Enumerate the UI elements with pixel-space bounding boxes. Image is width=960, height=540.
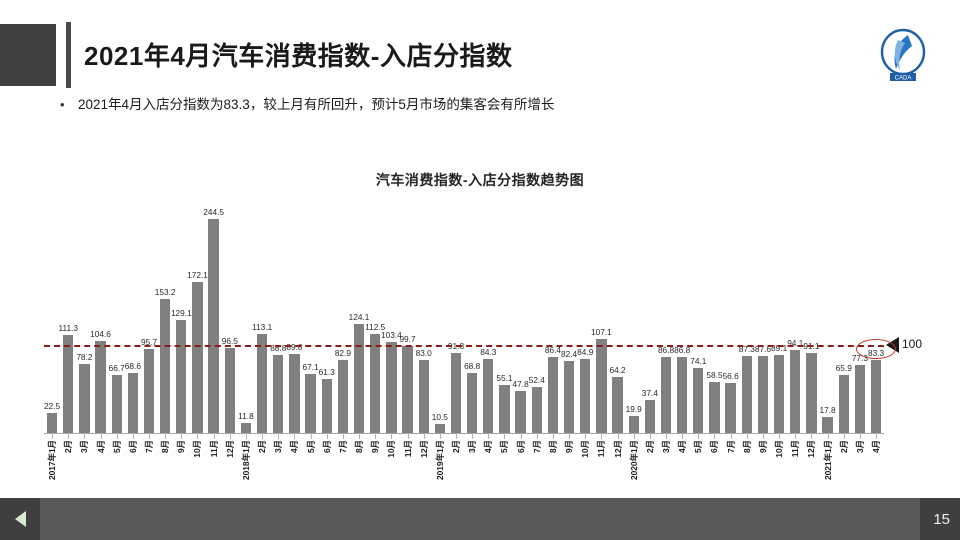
x-category: 6月 [319,440,335,498]
bar-value-label: 58.5 [706,370,722,380]
summary-bullet: • 2021年4月入店分指数为83.3，较上月有所回升，预计5月市场的集客会有所… [60,96,880,114]
x-category-label: 9月 [175,440,187,453]
x-tick [674,433,690,439]
x-category: 10月 [383,440,399,498]
x-category: 9月 [561,440,577,498]
x-category: 2月 [448,440,464,498]
x-category-label: 2021年1月 [822,440,834,480]
x-category-label: 10月 [191,440,203,458]
bar [774,355,784,433]
x-category: 2019年1月 [432,440,448,498]
x-tick [173,433,189,439]
bar-slot: 172.1 [189,205,205,433]
x-category-label: 7月 [531,440,543,453]
bar-slot: 96.5 [222,205,238,433]
x-tick [561,433,577,439]
x-tick [319,433,335,439]
x-category: 10月 [577,440,593,498]
bar-slot: 61.3 [319,205,335,433]
x-category-label: 6月 [515,440,527,453]
x-category: 9月 [173,440,189,498]
x-category-label: 4月 [482,440,494,453]
bar-slot: 89.8 [286,205,302,433]
bar-value-label: 67.1 [303,362,319,372]
x-category: 4月 [480,440,496,498]
x-category: 3月 [852,440,868,498]
bar [580,359,590,433]
x-category: 5月 [303,440,319,498]
x-category-label: 3月 [854,440,866,453]
x-category-label: 10月 [385,440,397,458]
x-category: 6月 [706,440,722,498]
x-category-label: 8月 [159,440,171,453]
page-title: 2021年4月汽车消费指数-入店分指数 [84,36,512,73]
bar-slot: 83.3 [868,205,884,433]
x-tick [157,433,173,439]
bar-slot: 47.8 [513,205,529,433]
bar [208,219,218,433]
bar [564,361,574,433]
x-tick [303,433,319,439]
x-tick [626,433,642,439]
bar-slot: 10.5 [432,205,448,433]
bar-value-label: 10.5 [432,412,448,422]
x-category-label: 4月 [288,440,300,453]
x-category: 2018年1月 [238,440,254,498]
x-tick [513,433,529,439]
bar-slot: 64.2 [609,205,625,433]
bar-slot: 88.8 [270,205,286,433]
bar-slot: 113.1 [254,205,270,433]
x-tick [803,433,819,439]
bar [515,391,525,433]
x-category-label: 10月 [579,440,591,458]
bar [709,382,719,433]
x-tick [868,433,884,439]
bar-series: 22.5111.378.2104.666.768.695.7153.2129.1… [44,205,884,433]
bar [499,385,509,433]
x-tick [125,433,141,439]
bar [806,353,816,433]
bar-slot: 83.0 [416,205,432,433]
x-category: 11月 [206,440,222,498]
x-category: 12月 [222,440,238,498]
x-tick [383,433,399,439]
bar [451,353,461,434]
bar-value-label: 65.9 [836,363,852,373]
x-category: 4月 [286,440,302,498]
x-tick [642,433,658,439]
x-category-label: 7月 [337,440,349,453]
x-category: 3月 [76,440,92,498]
x-category: 6月 [125,440,141,498]
bar-slot: 153.2 [157,205,173,433]
bar-slot: 107.1 [593,205,609,433]
x-category-label: 2月 [62,440,74,453]
x-category-label: 2月 [450,440,462,453]
x-tick [706,433,722,439]
bar-value-label: 68.8 [464,361,480,371]
x-axis-ticks [44,433,884,439]
x-category: 8月 [545,440,561,498]
bar-value-label: 61.3 [319,367,335,377]
x-category: 6月 [513,440,529,498]
x-category: 4月 [674,440,690,498]
x-tick [367,433,383,439]
bar-value-label: 78.2 [76,352,92,362]
x-category-label: 6月 [321,440,333,453]
x-tick [545,433,561,439]
bar-slot: 86.4 [545,205,561,433]
x-category: 11月 [787,440,803,498]
x-category-label: 6月 [127,440,139,453]
x-tick [254,433,270,439]
x-category: 5月 [690,440,706,498]
x-category-label: 4月 [95,440,107,453]
x-tick [60,433,76,439]
bar-slot: 37.4 [642,205,658,433]
bar-value-label: 66.7 [109,363,125,373]
bar-slot: 111.3 [60,205,76,433]
x-tick [399,433,415,439]
bar [241,423,251,433]
bar-slot: 129.1 [173,205,189,433]
x-tick [690,433,706,439]
bar-value-label: 19.9 [626,404,642,414]
x-category: 7月 [141,440,157,498]
x-category-label: 4月 [676,440,688,453]
bar-slot: 87.6 [755,205,771,433]
x-tick [464,433,480,439]
bar [402,346,412,433]
highlight-ellipse [856,339,896,359]
bar [645,400,655,433]
bar [725,383,735,433]
x-category: 2月 [836,440,852,498]
bar-value-label: 82.9 [335,348,351,358]
x-tick [852,433,868,439]
bar-slot: 65.9 [836,205,852,433]
x-category-label: 9月 [563,440,575,453]
bar-slot: 91.1 [803,205,819,433]
bar-slot: 89.1 [771,205,787,433]
x-category: 5月 [496,440,512,498]
x-category: 2021年1月 [820,440,836,498]
bar-slot: 86.8 [658,205,674,433]
x-category-label: 5月 [111,440,123,453]
x-tick [44,433,60,439]
bullet-text: 2021年4月入店分指数为83.3，较上月有所回升，预计5月市场的集客会有所增长 [78,96,554,114]
bar-value-label: 56.6 [723,371,739,381]
x-tick [723,433,739,439]
bar-slot: 124.1 [351,205,367,433]
x-category: 2月 [254,440,270,498]
bar-value-label: 55.1 [496,373,512,383]
x-category-label: 6月 [708,440,720,453]
bar [661,357,671,433]
x-tick [335,433,351,439]
bar-slot: 52.4 [529,205,545,433]
x-tick [480,433,496,439]
bar-slot: 91.8 [448,205,464,433]
bar [467,373,477,433]
x-tick [109,433,125,439]
x-category-label: 3月 [466,440,478,453]
x-category: 5月 [109,440,125,498]
chart-title: 汽车消费指数-入店分指数趋势图 [0,170,960,190]
footer-bar: 15 [0,498,960,540]
x-category-label: 5月 [305,440,317,453]
bar [435,424,445,433]
bar [855,365,865,433]
bar-slot: 84.3 [480,205,496,433]
bar-value-label: 22.5 [44,401,60,411]
bar [596,339,606,433]
x-category: 7月 [723,440,739,498]
bar [677,357,687,433]
triangle-left-icon [15,511,26,527]
x-category-label: 5月 [498,440,510,453]
x-tick [529,433,545,439]
bar [532,387,542,433]
x-tick [577,433,593,439]
x-tick [286,433,302,439]
bar-slot: 22.5 [44,205,60,433]
bar-value-label: 47.8 [513,379,529,389]
x-tick [836,433,852,439]
reference-line-label: 100 [902,337,922,351]
x-axis-category-labels: 2017年1月2月3月4月5月6月7月8月9月10月11月12月2018年1月2… [44,440,884,498]
bar [322,379,332,433]
bar-value-label: 17.8 [820,405,836,415]
x-category: 3月 [464,440,480,498]
bar [305,374,315,433]
x-tick [658,433,674,439]
bar [63,335,73,433]
prev-slide-button[interactable] [0,498,40,540]
x-tick [593,433,609,439]
bar [822,417,832,433]
x-tick [351,433,367,439]
reference-line-100 [44,345,884,347]
x-tick [238,433,254,439]
x-category-label: 5月 [692,440,704,453]
x-tick [755,433,771,439]
x-category: 8月 [157,440,173,498]
bar-value-label: 82.4 [561,349,577,359]
bar [176,320,186,433]
bar-slot: 19.9 [626,205,642,433]
x-category: 2020年1月 [626,440,642,498]
x-category: 10月 [189,440,205,498]
bar-value-label: 113.1 [252,322,272,332]
x-category: 3月 [658,440,674,498]
bar [192,282,202,433]
x-tick [76,433,92,439]
bar-slot: 58.5 [706,205,722,433]
x-tick [820,433,836,439]
x-category: 2月 [642,440,658,498]
bar-value-label: 74.1 [690,356,706,366]
x-category-label: 2月 [838,440,850,453]
bar [548,357,558,433]
x-category: 9月 [755,440,771,498]
x-category-label: 2月 [256,440,268,453]
bar [273,355,283,433]
bar [612,377,622,433]
bar-slot: 94.1 [787,205,803,433]
x-category-label: 3月 [272,440,284,453]
x-category: 2月 [60,440,76,498]
bar-slot: 77.3 [852,205,868,433]
chart-plot-area: 22.5111.378.2104.666.768.695.7153.2129.1… [44,205,884,433]
cada-logo: CADA [874,28,932,84]
x-category: 11月 [593,440,609,498]
bar [47,413,57,433]
x-category-label: 8月 [741,440,753,453]
bar-slot: 87.3 [739,205,755,433]
x-tick [222,433,238,439]
x-category-label: 11月 [789,440,801,457]
page-number-block: 15 [920,498,960,540]
bar-value-label: 37.4 [642,388,658,398]
x-tick [609,433,625,439]
x-category-label: 11月 [402,440,414,457]
bar-slot: 78.2 [76,205,92,433]
bar [354,324,364,433]
bar [144,349,154,433]
x-tick [141,433,157,439]
x-category: 7月 [529,440,545,498]
bar-value-label: 64.2 [609,365,625,375]
x-category-label: 8月 [547,440,559,453]
bar [758,356,768,433]
bar-slot: 68.6 [125,205,141,433]
x-category: 8月 [351,440,367,498]
x-category: 12月 [803,440,819,498]
x-category: 12月 [416,440,432,498]
bar-value-label: 52.4 [529,375,545,385]
bar-slot: 95.7 [141,205,157,433]
bullet-marker: • [60,96,78,114]
bar-value-label: 68.6 [125,361,141,371]
bar-slot: 56.6 [723,205,739,433]
x-category-label: 12月 [612,440,624,458]
x-category: 3月 [270,440,286,498]
x-category-label: 8月 [353,440,365,453]
x-category-label: 4月 [870,440,882,453]
bar [790,350,800,433]
bar-value-label: 84.9 [577,347,593,357]
x-category-label: 2月 [644,440,656,453]
bar-slot: 86.8 [674,205,690,433]
x-category: 12月 [609,440,625,498]
x-tick [771,433,787,439]
bar [483,359,493,433]
bar [128,373,138,433]
bar-slot: 17.8 [820,205,836,433]
bar [257,334,267,433]
x-category-label: 2018年1月 [240,440,252,480]
x-category: 11月 [399,440,415,498]
bar-slot: 11.8 [238,205,254,433]
bar [693,368,703,433]
bar-slot: 84.9 [577,205,593,433]
x-category: 2017年1月 [44,440,60,498]
bar-slot: 99.7 [399,205,415,433]
bar-slot: 104.6 [92,205,108,433]
bar [289,354,299,433]
x-category-label: 7月 [725,440,737,453]
x-tick [189,433,205,439]
x-category-label: 11月 [595,440,607,457]
x-category-label: 12月 [418,440,430,458]
x-tick [270,433,286,439]
bar-value-label: 99.7 [399,334,415,344]
bar-slot: 66.7 [109,205,125,433]
bar [160,299,170,433]
bar-slot: 67.1 [303,205,319,433]
x-category-label: 7月 [143,440,155,453]
x-tick [787,433,803,439]
x-tick [92,433,108,439]
x-category: 4月 [868,440,884,498]
x-tick [496,433,512,439]
bar-slot: 112.5 [367,205,383,433]
x-category-label: 2019年1月 [434,440,446,480]
page-number: 15 [933,511,950,528]
bar-value-label: 11.8 [238,411,254,421]
bar [370,334,380,433]
bar-slot: 55.1 [496,205,512,433]
bar-slot: 244.5 [206,205,222,433]
bar-slot: 68.8 [464,205,480,433]
bar [871,360,881,433]
bar-value-label: 83.0 [416,348,432,358]
bar-value-label: 84.3 [480,347,496,357]
bar [338,360,348,433]
x-category-label: 10月 [773,440,785,458]
bar [79,364,89,433]
x-category-label: 11月 [208,440,220,457]
bar-slot: 82.4 [561,205,577,433]
bar-slot: 74.1 [690,205,706,433]
x-category-label: 12月 [224,440,236,458]
bar [629,416,639,433]
svg-text:CADA: CADA [895,76,912,82]
x-category: 10月 [771,440,787,498]
x-category: 4月 [92,440,108,498]
bar [839,375,849,433]
x-category: 9月 [367,440,383,498]
header-accent-block [0,24,56,86]
bar-slot: 103.4 [383,205,399,433]
x-tick [432,433,448,439]
bar [419,360,429,433]
x-category-label: 9月 [369,440,381,453]
x-category-label: 3月 [78,440,90,453]
x-tick [448,433,464,439]
x-tick [206,433,222,439]
bar [112,375,122,433]
bar [225,348,235,433]
bar [742,356,752,433]
x-category-label: 9月 [757,440,769,453]
x-category-label: 2017年1月 [46,440,58,480]
x-category: 8月 [739,440,755,498]
bar-value-label: 111.3 [58,323,78,333]
x-category-label: 2020年1月 [628,440,640,480]
